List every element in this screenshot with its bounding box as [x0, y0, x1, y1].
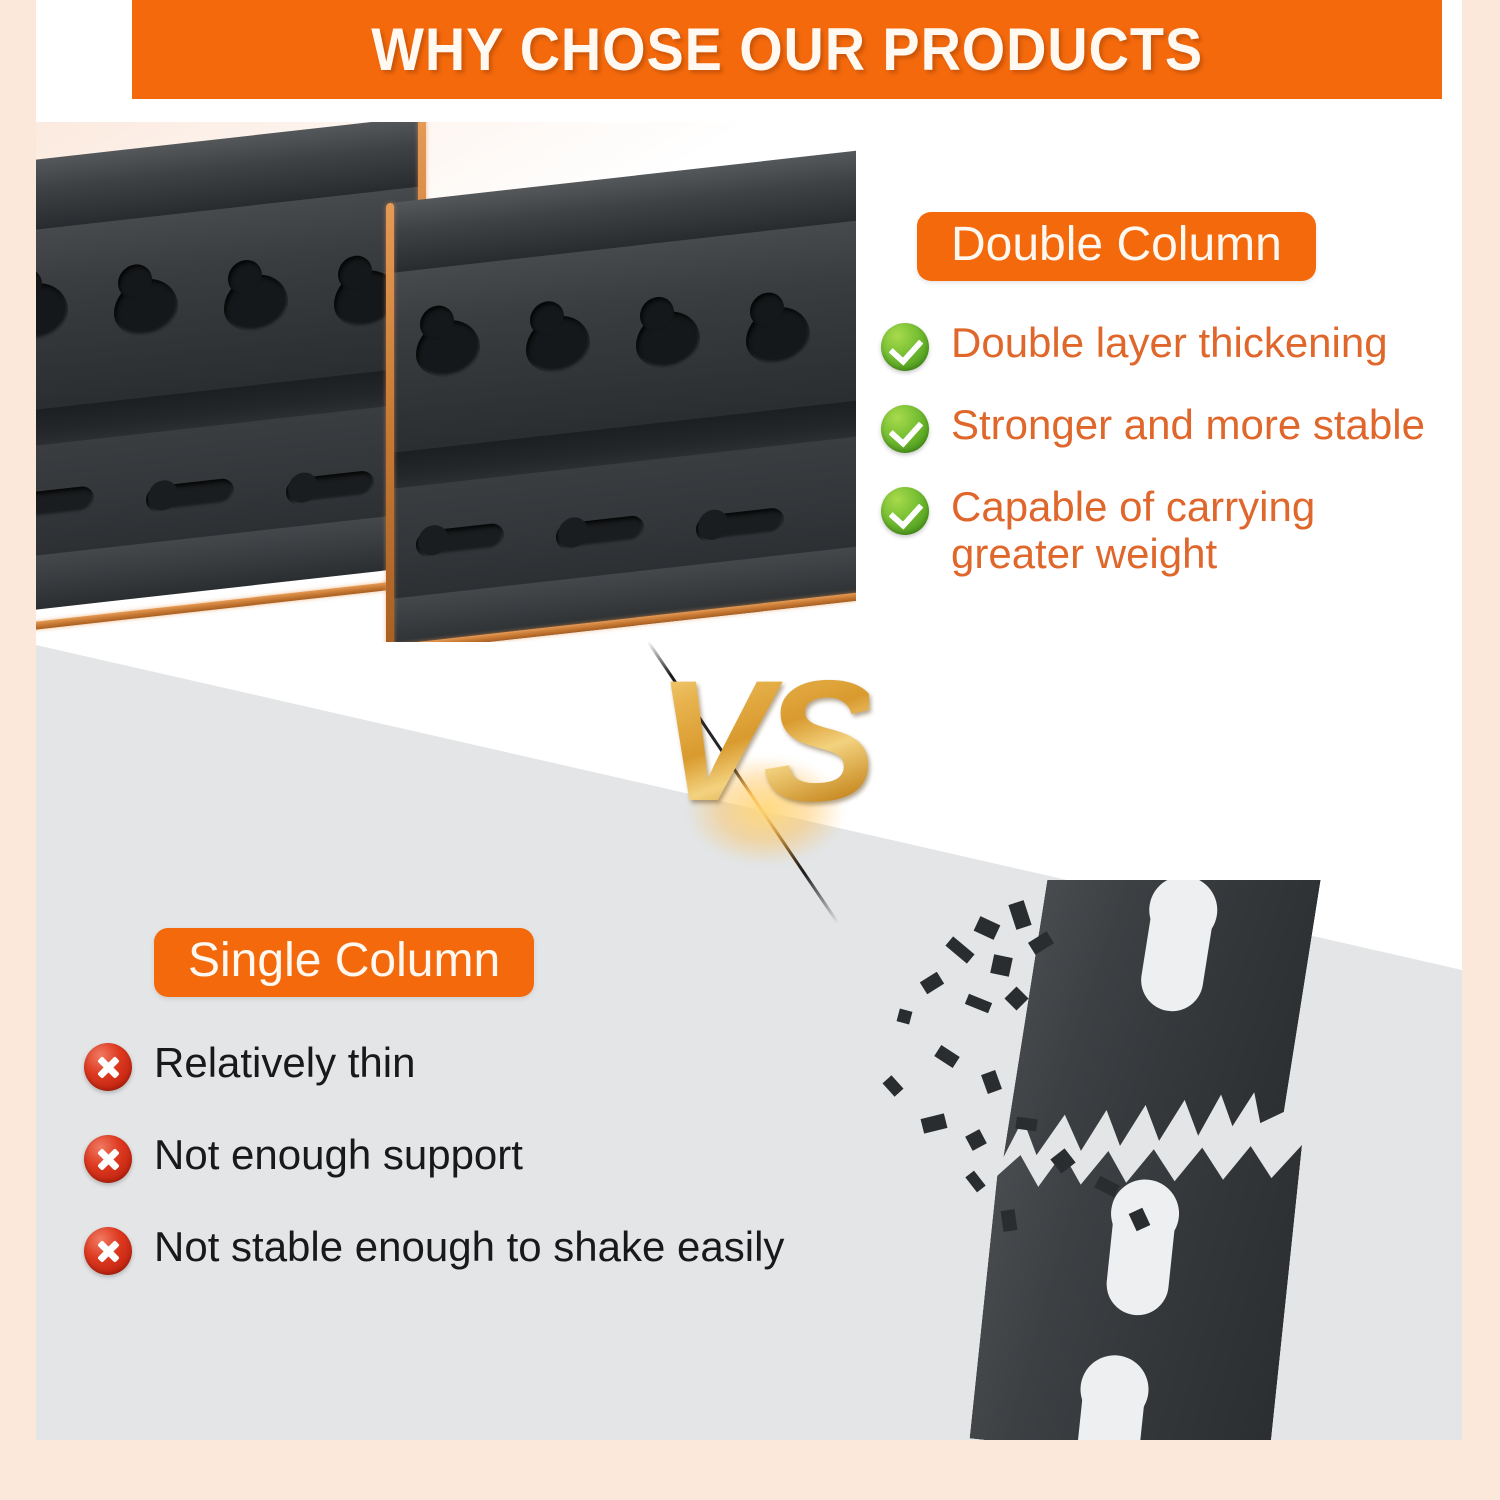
- cross-icon: [84, 1135, 132, 1183]
- beam-keyhole-slot: [416, 317, 480, 380]
- debris-shard: [965, 994, 992, 1014]
- debris-shard: [1001, 1209, 1018, 1232]
- cross-icon: [84, 1227, 132, 1275]
- beam-oval-slot: [696, 507, 784, 543]
- steel-beam-back: [36, 122, 426, 634]
- beam-keyhole-slot: [636, 308, 700, 371]
- beam-oval-slot: [286, 470, 374, 506]
- debris-shard: [934, 1045, 960, 1068]
- check-icon: [881, 323, 929, 371]
- list-item-label: Stronger and more stable: [951, 401, 1425, 448]
- debris-shard: [1015, 1117, 1037, 1132]
- check-icon: [881, 405, 929, 453]
- double-column-badge-row: Double Column: [917, 212, 1461, 281]
- beam-keyhole-slot: [526, 313, 590, 376]
- page-title: WHY CHOSE OUR PRODUCTS: [371, 20, 1203, 80]
- check-icon: [881, 487, 929, 535]
- list-item: Capable of carrying greater weight: [881, 483, 1461, 577]
- broken-beam-lower-piece: [970, 1110, 1303, 1440]
- broken-beam-keyhole: [1137, 880, 1219, 1016]
- beam-oval-slot: [556, 515, 644, 551]
- list-item: Relatively thin: [84, 1039, 904, 1091]
- beam-keyhole-slot: [36, 280, 68, 343]
- list-item: Not enough support: [84, 1131, 904, 1183]
- debris-shard: [1004, 986, 1028, 1010]
- beam-keyhole-slot: [114, 276, 178, 339]
- list-item-label: Not enough support: [154, 1131, 523, 1178]
- broken-beam-keyhole: [1073, 1358, 1148, 1440]
- list-item: Not stable enough to shake easily: [84, 1223, 904, 1275]
- debris-shard: [1008, 900, 1031, 930]
- debris-shard: [981, 1070, 1002, 1094]
- list-item-label: Double layer thickening: [951, 319, 1388, 366]
- debris-shard: [974, 916, 1001, 940]
- header-banner: WHY CHOSE OUR PRODUCTS: [132, 0, 1442, 99]
- debris-shard: [965, 1171, 985, 1193]
- list-item-label: Capable of carrying greater weight: [951, 483, 1381, 577]
- infographic-canvas: VS WHY CHOSE OUR PRODUCTS Double Column …: [36, 0, 1462, 1440]
- beam-oval-slot: [416, 522, 504, 558]
- double-column-benefit-list: Double layer thickening Stronger and mor…: [881, 319, 1461, 577]
- double-column-badge: Double Column: [917, 212, 1316, 281]
- debris-shard: [965, 1129, 987, 1151]
- debris-shard: [921, 1113, 948, 1133]
- list-item: Double layer thickening: [881, 319, 1461, 371]
- list-item-label: Not stable enough to shake easily: [154, 1223, 784, 1270]
- beam-oval-slot: [36, 485, 94, 521]
- list-item-label: Relatively thin: [154, 1039, 415, 1086]
- vs-label: VS: [656, 655, 869, 827]
- cross-icon: [84, 1043, 132, 1091]
- single-column-drawback-list: Relatively thin Not enough support Not s…: [84, 1039, 904, 1275]
- single-column-badge: Single Column: [154, 928, 534, 997]
- list-item: Stronger and more stable: [881, 401, 1461, 453]
- broken-beam-keyhole: [1104, 1182, 1179, 1318]
- page-frame: VS WHY CHOSE OUR PRODUCTS Double Column …: [0, 0, 1500, 1500]
- debris-shard: [990, 954, 1013, 977]
- steel-beam-front: [386, 149, 856, 642]
- single-column-section: Single Column Relatively thin Not enough…: [84, 928, 904, 1315]
- debris-shard: [920, 972, 944, 994]
- beam-keyhole-slot: [746, 304, 810, 367]
- beam-keyhole-slot: [224, 271, 288, 334]
- broken-single-column-beam-photo: [826, 880, 1462, 1440]
- double-column-steel-beam-photo: [36, 122, 856, 642]
- debris-shard: [945, 936, 974, 963]
- beam-copper-edge: [386, 203, 394, 642]
- double-column-section: Double Column Double layer thickening St…: [881, 212, 1461, 577]
- versus-graphic: VS: [656, 655, 876, 895]
- single-column-badge-row: Single Column: [154, 928, 904, 997]
- beam-oval-slot: [146, 477, 234, 513]
